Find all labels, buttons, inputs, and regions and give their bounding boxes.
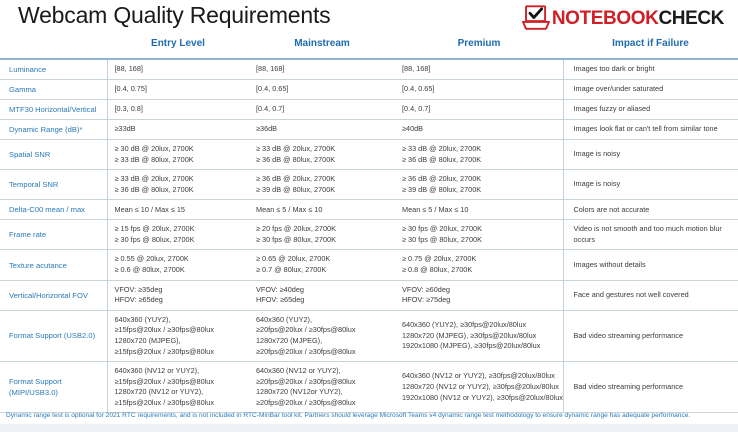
cell-line: ≥ 36 dB @ 80lux, 2700K bbox=[115, 185, 243, 196]
cell-impact: Image over/under saturated bbox=[563, 80, 738, 100]
footnote-text: Dynamic range test is optional for 2021 … bbox=[0, 412, 738, 421]
row-label-text: Format Support (MIPI/USB3.0) bbox=[9, 376, 100, 398]
table-row: Texture acutance≥ 0.55 @ 20lux, 2700K≥ 0… bbox=[0, 250, 738, 280]
table-row: Spatial SNR≥ 30 dB @ 20lux, 2700K≥ 33 dB… bbox=[0, 140, 738, 170]
table-row: Dynamic Range (dB)*≥33dB≥36dB≥40dBImages… bbox=[0, 120, 738, 140]
cell-entry-level: [0.3, 0.8] bbox=[107, 100, 249, 120]
cell-line: HFOV: ≥65deg bbox=[115, 295, 243, 306]
cell-line: 640x360 (YUY2), ≥30fps@20lux/80lux bbox=[402, 320, 556, 331]
cell-line: ≥ 20 fps @ 20lux, 2700K bbox=[256, 224, 388, 235]
row-label-text: Temporal SNR bbox=[9, 179, 100, 190]
cell-line: Image over/under saturated bbox=[574, 84, 732, 95]
cell-premium: 640x360 (NV12 or YUY2), ≥30fps@20lux/80l… bbox=[395, 362, 563, 413]
cell-impact: Image is noisy bbox=[563, 140, 738, 170]
cell-line: 1280x720 (MJPEG), ≥30fps@20lux/80lux bbox=[402, 331, 556, 342]
row-label: Luminance bbox=[0, 59, 107, 80]
cell-line: 640x360 (NV12 or YUY2), ≥30fps@20lux/80l… bbox=[402, 371, 556, 382]
cell-line: ≥ 30 dB @ 20lux, 2700K bbox=[115, 144, 243, 155]
cell-line: 1920x1080 (NV12 or YUY2), ≥30fps@20lux/8… bbox=[402, 393, 556, 404]
cell-line: Mean ≤ 5 / Max ≤ 10 bbox=[256, 205, 388, 216]
cell-line: Image is noisy bbox=[574, 149, 732, 160]
cell-line: 1280x720 (NV12 or YUY2), bbox=[115, 387, 243, 398]
cell-line: 640x360 (YUY2), bbox=[115, 315, 243, 326]
cell-line: ≥ 30 fps @ 80lux, 2700K bbox=[256, 235, 388, 246]
notebook-check-icon bbox=[521, 5, 551, 31]
cell-line: ≥20fps@20lux / ≥30fps@80lux bbox=[256, 347, 388, 358]
row-label-text: Format Support (USB2.0) bbox=[9, 330, 100, 341]
cell-mainstream: VFOV: ≥40degHFOV: ≥65deg bbox=[249, 280, 395, 310]
cell-line: Video is not smooth and too much motion … bbox=[574, 224, 732, 245]
table-row: Gamma[0.4, 0.75][0.4, 0.65][0.4, 0.65]Im… bbox=[0, 80, 738, 100]
cell-premium: [88, 168] bbox=[395, 59, 563, 80]
cell-mainstream: [0.4, 0.65] bbox=[249, 80, 395, 100]
cell-line: [0.3, 0.8] bbox=[115, 104, 243, 115]
cell-line: ≥ 0.8 @ 80lux, 2700K bbox=[402, 265, 556, 276]
cell-line: Bad video streaming performance bbox=[574, 382, 732, 393]
slide-root: Webcam Quality Requirements NOTEBOOKCHEC… bbox=[0, 0, 738, 432]
row-label: Format Support (MIPI/USB3.0) bbox=[0, 362, 107, 413]
cell-line: ≥ 33 dB @ 20lux, 2700K bbox=[256, 144, 388, 155]
cell-line: 1280x720 (NV12or YUY2), bbox=[256, 387, 388, 398]
cell-line: [0.4, 0.65] bbox=[256, 84, 388, 95]
cell-line: Images fuzzy or aliased bbox=[574, 104, 732, 115]
cell-line: ≥ 0.7 @ 80lux, 2700K bbox=[256, 265, 388, 276]
cell-premium: ≥ 0.75 @ 20lux, 2700K≥ 0.8 @ 80lux, 2700… bbox=[395, 250, 563, 280]
cell-premium: ≥ 33 dB @ 20lux, 2700K≥ 36 dB @ 80lux, 2… bbox=[395, 140, 563, 170]
cell-line: ≥ 0.75 @ 20lux, 2700K bbox=[402, 254, 556, 265]
cell-line: ≥20fps@20lux / ≥30fps@80lux bbox=[256, 398, 388, 409]
cell-premium: Mean ≤ 5 / Max ≤ 10 bbox=[395, 200, 563, 220]
row-label: Temporal SNR bbox=[0, 170, 107, 200]
table-header-row: Entry Level Mainstream Premium Impact if… bbox=[0, 38, 738, 59]
row-label-text: Dynamic Range (dB)* bbox=[9, 124, 100, 135]
cell-mainstream: ≥ 0.65 @ 20lux, 2700K≥ 0.7 @ 80lux, 2700… bbox=[249, 250, 395, 280]
row-label-text: Texture acutance bbox=[9, 260, 100, 271]
cell-line: 1280x720 (MJPEG), bbox=[115, 336, 243, 347]
table-row: Luminance[88, 168][88, 168][88, 168]Imag… bbox=[0, 59, 738, 80]
table-body: Luminance[88, 168][88, 168][88, 168]Imag… bbox=[0, 59, 738, 413]
webcam-requirements-table: Entry Level Mainstream Premium Impact if… bbox=[0, 38, 738, 413]
row-label: Dynamic Range (dB)* bbox=[0, 120, 107, 140]
column-header-metric bbox=[0, 38, 107, 59]
cell-line: 1280x720 (NV12 or YUY2), ≥30fps@20lux/80… bbox=[402, 382, 556, 393]
cell-line: HFOV: ≥75deg bbox=[402, 295, 556, 306]
cell-mainstream: 640x360 (YUY2),≥20fps@20lux / ≥30fps@80l… bbox=[249, 310, 395, 361]
cell-line: [88, 168] bbox=[115, 64, 243, 75]
cell-impact: Image is noisy bbox=[563, 170, 738, 200]
cell-line: ≥36dB bbox=[256, 124, 388, 135]
logo-text-secondary: CHECK bbox=[658, 8, 724, 29]
row-label: Spatial SNR bbox=[0, 140, 107, 170]
cell-line: Images too dark or bright bbox=[574, 64, 732, 75]
cell-mainstream: ≥36dB bbox=[249, 120, 395, 140]
cell-line: ≥ 36 dB @ 20lux, 2700K bbox=[402, 174, 556, 185]
cell-line: Image is noisy bbox=[574, 179, 732, 190]
table-header: Entry Level Mainstream Premium Impact if… bbox=[0, 38, 738, 59]
cell-line: ≥ 30 fps @ 20lux, 2700K bbox=[402, 224, 556, 235]
row-label-text: Spatial SNR bbox=[9, 149, 100, 160]
cell-mainstream: 640x360 (NV12 or YUY2),≥20fps@20lux / ≥3… bbox=[249, 362, 395, 413]
column-header-premium: Premium bbox=[395, 38, 563, 59]
cell-line: ≥ 30 fps @ 80lux, 2700K bbox=[115, 235, 243, 246]
cell-line: VFOV: ≥40deg bbox=[256, 285, 388, 296]
table-row: Delta-C00 mean / maxMean ≤ 10 / Max ≤ 15… bbox=[0, 200, 738, 220]
cell-line: ≥ 15 fps @ 20lux, 2700K bbox=[115, 224, 243, 235]
cell-impact: Colors are not accurate bbox=[563, 200, 738, 220]
column-header-entry-level: Entry Level bbox=[107, 38, 249, 59]
cell-impact: Images without details bbox=[563, 250, 738, 280]
cell-line: ≥ 33 dB @ 20lux, 2700K bbox=[402, 144, 556, 155]
cell-line: ≥ 33 dB @ 20lux, 2700K bbox=[115, 174, 243, 185]
row-label: MTF30 Horizontal/Vertical bbox=[0, 100, 107, 120]
cell-premium: [0.4, 0.65] bbox=[395, 80, 563, 100]
cell-entry-level: 640x360 (NV12 or YUY2),≥15fps@20lux / ≥3… bbox=[107, 362, 249, 413]
cell-mainstream: [88, 168] bbox=[249, 59, 395, 80]
cell-line: VFOV: ≥35deg bbox=[115, 285, 243, 296]
cell-line: [0.4, 0.65] bbox=[402, 84, 556, 95]
cell-mainstream: ≥ 36 dB @ 20lux, 2700K≥ 39 dB @ 80lux, 2… bbox=[249, 170, 395, 200]
cell-entry-level: ≥ 30 dB @ 20lux, 2700K≥ 33 dB @ 80lux, 2… bbox=[107, 140, 249, 170]
cell-line: ≥ 36 dB @ 80lux, 2700K bbox=[256, 155, 388, 166]
cell-entry-level: [0.4, 0.75] bbox=[107, 80, 249, 100]
cell-line: ≥ 39 dB @ 80lux, 2700K bbox=[402, 185, 556, 196]
row-label: Gamma bbox=[0, 80, 107, 100]
cell-line: 640x360 (NV12 or YUY2), bbox=[256, 366, 388, 377]
page-title: Webcam Quality Requirements bbox=[18, 2, 330, 29]
row-label-text: Luminance bbox=[9, 64, 100, 75]
cell-premium: ≥40dB bbox=[395, 120, 563, 140]
cell-entry-level: 640x360 (YUY2),≥15fps@20lux / ≥30fps@80l… bbox=[107, 310, 249, 361]
row-label-text: Delta-C00 mean / max bbox=[9, 204, 100, 215]
cell-line: 1280x720 (MJPEG), bbox=[256, 336, 388, 347]
table-row: Format Support (USB2.0)640x360 (YUY2),≥1… bbox=[0, 310, 738, 361]
cell-line: ≥40dB bbox=[402, 124, 556, 135]
cell-line: ≥15fps@20lux / ≥30fps@80lux bbox=[115, 325, 243, 336]
slide-header: Webcam Quality Requirements NOTEBOOKCHEC… bbox=[0, 0, 738, 38]
cell-line: HFOV: ≥65deg bbox=[256, 295, 388, 306]
cell-impact: Video is not smooth and too much motion … bbox=[563, 220, 738, 250]
cell-mainstream: ≥ 20 fps @ 20lux, 2700K≥ 30 fps @ 80lux,… bbox=[249, 220, 395, 250]
cell-line: Face and gestures not well covered bbox=[574, 290, 732, 301]
table-row: Format Support (MIPI/USB3.0)640x360 (NV1… bbox=[0, 362, 738, 413]
table-row: Temporal SNR≥ 33 dB @ 20lux, 2700K≥ 36 d… bbox=[0, 170, 738, 200]
column-header-impact: Impact if Failure bbox=[563, 38, 738, 59]
cell-premium: [0.4, 0.7] bbox=[395, 100, 563, 120]
cell-line: 640x360 (NV12 or YUY2), bbox=[115, 366, 243, 377]
cell-impact: Bad video streaming performance bbox=[563, 362, 738, 413]
notebookcheck-logo: NOTEBOOKCHECK bbox=[521, 4, 724, 32]
cell-entry-level: VFOV: ≥35degHFOV: ≥65deg bbox=[107, 280, 249, 310]
cell-line: ≥ 39 dB @ 80lux, 2700K bbox=[256, 185, 388, 196]
logo-text-primary: NOTEBOOK bbox=[552, 8, 659, 29]
cell-entry-level: ≥ 15 fps @ 20lux, 2700K≥ 30 fps @ 80lux,… bbox=[107, 220, 249, 250]
cell-entry-level: ≥ 0.55 @ 20lux, 2700K≥ 0.6 @ 80lux, 2700… bbox=[107, 250, 249, 280]
row-label-text: Frame rate bbox=[9, 229, 100, 240]
cell-mainstream: [0.4, 0.7] bbox=[249, 100, 395, 120]
cell-entry-level: ≥ 33 dB @ 20lux, 2700K≥ 36 dB @ 80lux, 2… bbox=[107, 170, 249, 200]
cell-line: Colors are not accurate bbox=[574, 205, 732, 216]
cell-line: Mean ≤ 10 / Max ≤ 15 bbox=[115, 205, 243, 216]
cell-premium: 640x360 (YUY2), ≥30fps@20lux/80lux1280x7… bbox=[395, 310, 563, 361]
cell-line: ≥15fps@20lux / ≥30fps@80lux bbox=[115, 377, 243, 388]
row-label: Format Support (USB2.0) bbox=[0, 310, 107, 361]
cell-line: [88, 168] bbox=[402, 64, 556, 75]
cell-line: [0.4, 0.75] bbox=[115, 84, 243, 95]
row-label: Delta-C00 mean / max bbox=[0, 200, 107, 220]
row-label: Frame rate bbox=[0, 220, 107, 250]
cell-line: ≥ 30 fps @ 80lux, 2700K bbox=[402, 235, 556, 246]
cell-line: [0.4, 0.7] bbox=[402, 104, 556, 115]
cell-line: Images without details bbox=[574, 260, 732, 271]
cell-entry-level: Mean ≤ 10 / Max ≤ 15 bbox=[107, 200, 249, 220]
cell-line: ≥33dB bbox=[115, 124, 243, 135]
cell-premium: ≥ 36 dB @ 20lux, 2700K≥ 39 dB @ 80lux, 2… bbox=[395, 170, 563, 200]
cell-line: ≥15fps@20lux / ≥30fps@80lux bbox=[115, 398, 243, 409]
cell-premium: ≥ 30 fps @ 20lux, 2700K≥ 30 fps @ 80lux,… bbox=[395, 220, 563, 250]
cell-line: 640x360 (YUY2), bbox=[256, 315, 388, 326]
cell-line: ≥ 36 dB @ 80lux, 2700K bbox=[402, 155, 556, 166]
row-label-text: MTF30 Horizontal/Vertical bbox=[9, 104, 100, 115]
cell-impact: Images fuzzy or aliased bbox=[563, 100, 738, 120]
cell-impact: Images look flat or can't tell from simi… bbox=[563, 120, 738, 140]
cell-line: Mean ≤ 5 / Max ≤ 10 bbox=[402, 205, 556, 216]
table-row: Vertical/Horizontal FOVVFOV: ≥35degHFOV:… bbox=[0, 280, 738, 310]
cell-entry-level: [88, 168] bbox=[107, 59, 249, 80]
cell-line: ≥ 0.55 @ 20lux, 2700K bbox=[115, 254, 243, 265]
cell-line: Bad video streaming performance bbox=[574, 331, 732, 342]
table-row: Frame rate≥ 15 fps @ 20lux, 2700K≥ 30 fp… bbox=[0, 220, 738, 250]
cell-line: ≥ 33 dB @ 80lux, 2700K bbox=[115, 155, 243, 166]
cell-line: VFOV: ≥60deg bbox=[402, 285, 556, 296]
cell-premium: VFOV: ≥60degHFOV: ≥75deg bbox=[395, 280, 563, 310]
row-label: Vertical/Horizontal FOV bbox=[0, 280, 107, 310]
cell-line: ≥ 0.6 @ 80lux, 2700K bbox=[115, 265, 243, 276]
cell-line: Images look flat or can't tell from simi… bbox=[574, 124, 732, 135]
cell-impact: Face and gestures not well covered bbox=[563, 280, 738, 310]
cell-mainstream: Mean ≤ 5 / Max ≤ 10 bbox=[249, 200, 395, 220]
cell-line: [88, 168] bbox=[256, 64, 388, 75]
cell-mainstream: ≥ 33 dB @ 20lux, 2700K≥ 36 dB @ 80lux, 2… bbox=[249, 140, 395, 170]
column-header-mainstream: Mainstream bbox=[249, 38, 395, 59]
row-label-text: Vertical/Horizontal FOV bbox=[9, 290, 100, 301]
cell-line: [0.4, 0.7] bbox=[256, 104, 388, 115]
bottom-bar bbox=[0, 424, 738, 432]
cell-line: ≥ 0.65 @ 20lux, 2700K bbox=[256, 254, 388, 265]
cell-line: ≥20fps@20lux / ≥30fps@80lux bbox=[256, 377, 388, 388]
cell-line: ≥20fps@20lux / ≥30fps@80lux bbox=[256, 325, 388, 336]
cell-line: 1920x1080 (MJPEG), ≥30fps@20lux/80lux bbox=[402, 341, 556, 352]
cell-line: ≥15fps@20lux / ≥30fps@80lux bbox=[115, 347, 243, 358]
cell-impact: Bad video streaming performance bbox=[563, 310, 738, 361]
cell-impact: Images too dark or bright bbox=[563, 59, 738, 80]
row-label-text: Gamma bbox=[9, 84, 100, 95]
cell-line: ≥ 36 dB @ 20lux, 2700K bbox=[256, 174, 388, 185]
table-row: MTF30 Horizontal/Vertical[0.3, 0.8][0.4,… bbox=[0, 100, 738, 120]
logo-wordmark: NOTEBOOKCHECK bbox=[552, 9, 724, 28]
row-label: Texture acutance bbox=[0, 250, 107, 280]
cell-entry-level: ≥33dB bbox=[107, 120, 249, 140]
